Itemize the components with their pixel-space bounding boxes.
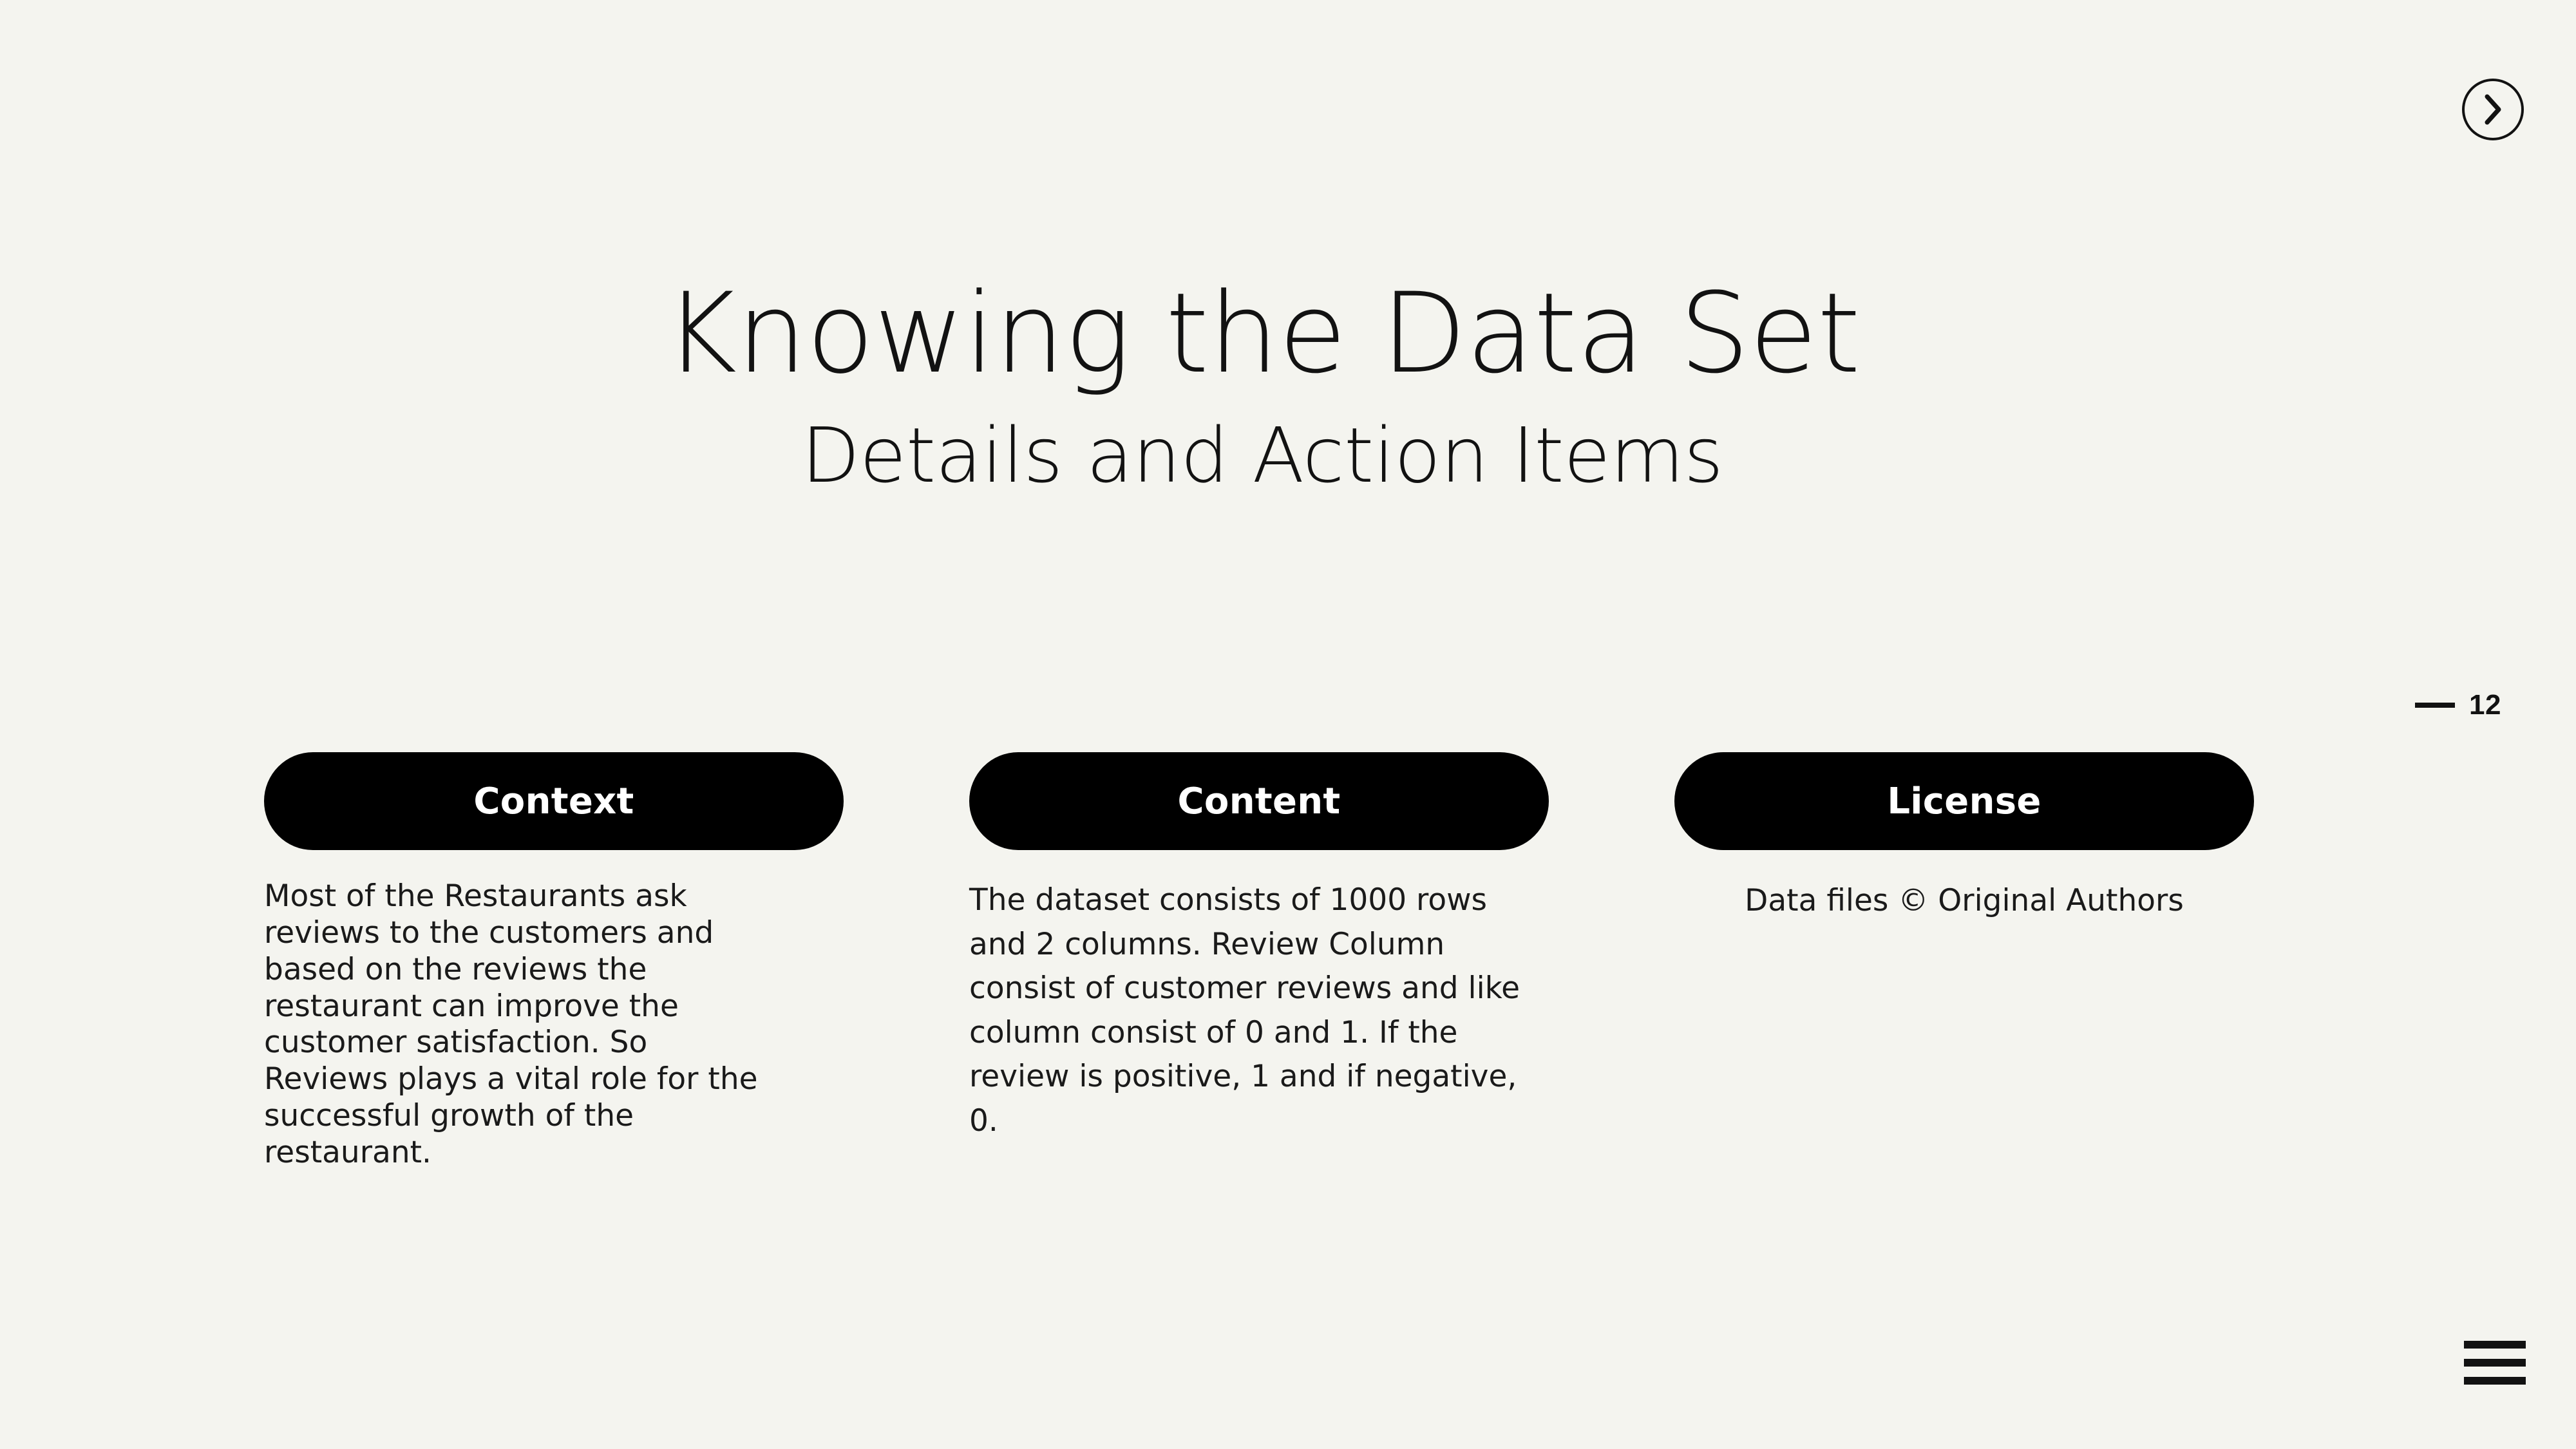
content-columns: Context Most of the Restaurants ask revi…	[264, 752, 2254, 1202]
column-body-context: Most of the Restaurants ask reviews to t…	[264, 878, 844, 1171]
page-number: 12	[2469, 689, 2501, 721]
hamburger-menu-icon[interactable]	[2464, 1341, 2526, 1385]
column-license: License Data files © Original Authors	[1674, 752, 2254, 1202]
pill-button-content[interactable]: Content	[969, 752, 1549, 850]
page-subtitle: Details and Action Items	[0, 414, 2524, 498]
pill-label-content: Content	[1178, 781, 1341, 822]
slide-canvas: Knowing the Data Set Details and Action …	[0, 0, 2576, 1449]
pill-button-license[interactable]: License	[1674, 752, 2254, 850]
column-context: Context Most of the Restaurants ask revi…	[264, 752, 844, 1202]
pill-label-license: License	[1887, 781, 2041, 822]
pill-label-context: Context	[473, 781, 634, 822]
page-title: Knowing the Data Set	[0, 277, 2524, 390]
hamburger-bar-top	[2464, 1341, 2526, 1349]
column-body-license: Data files © Original Authors	[1674, 881, 2254, 920]
column-content: Content The dataset consists of 1000 row…	[969, 752, 1549, 1202]
hamburger-bar-middle	[2464, 1359, 2526, 1367]
next-slide-button[interactable]	[2462, 79, 2524, 140]
title-block: Knowing the Data Set Details and Action …	[0, 277, 2524, 498]
hamburger-bar-bottom	[2464, 1377, 2526, 1385]
page-indicator-dash	[2415, 703, 2455, 708]
column-body-content: The dataset consists of 1000 rows and 2 …	[969, 878, 1549, 1144]
page-indicator: 12	[2415, 689, 2501, 721]
chevron-right-icon	[2482, 93, 2504, 126]
pill-button-context[interactable]: Context	[264, 752, 844, 850]
